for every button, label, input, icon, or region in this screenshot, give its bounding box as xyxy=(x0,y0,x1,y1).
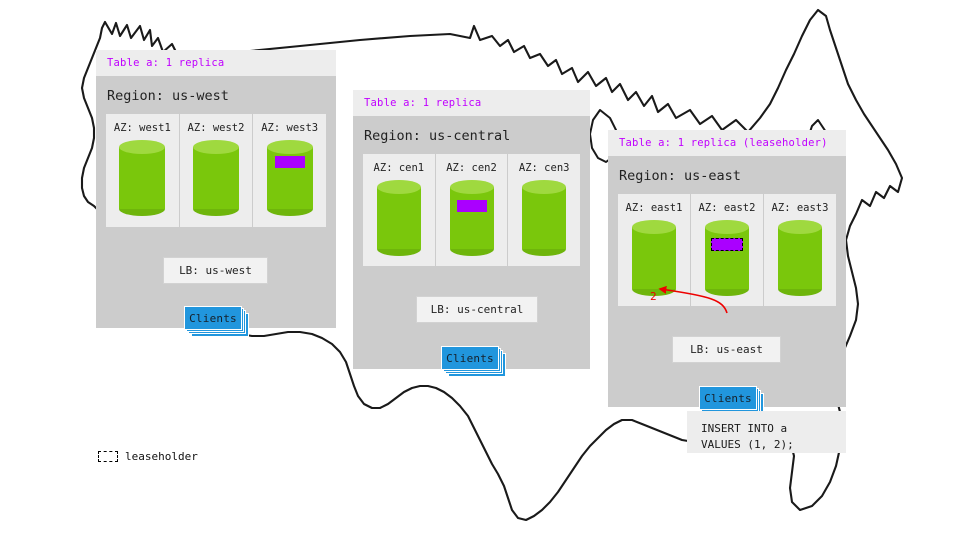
region-panel-us-central: Table a: 1 replica Region: us-central AZ… xyxy=(353,90,590,369)
clients-button-us-west[interactable]: Clients xyxy=(184,306,242,330)
panel-body-us-east: Region: us-east AZ: east1 AZ: east2 xyxy=(608,156,846,407)
az-label-cen1: AZ: cen1 xyxy=(363,162,435,174)
cylinder-body xyxy=(119,147,165,209)
cylinder-top xyxy=(522,180,566,194)
az-label-west2: AZ: west2 xyxy=(180,122,253,134)
node-cylinder-west3[interactable] xyxy=(267,140,313,216)
cylinder-body xyxy=(377,187,421,249)
node-cylinder-west1[interactable] xyxy=(119,140,165,216)
node-cylinder-west2[interactable] xyxy=(193,140,239,216)
load-balancer-us-central[interactable]: LB: us-central xyxy=(416,296,538,323)
cylinder-body xyxy=(450,187,494,249)
node-cylinder-east2[interactable] xyxy=(705,220,749,296)
panel-header-us-west: Table a: 1 replica xyxy=(96,50,336,76)
az-label-west3: AZ: west3 xyxy=(253,122,326,134)
az-cell-east3[interactable]: AZ: east3 xyxy=(764,194,836,306)
az-label-east1: AZ: east1 xyxy=(618,202,690,214)
replica-marker-west3[interactable] xyxy=(275,156,305,168)
cylinder-body xyxy=(632,227,676,289)
node-cylinder-cen3[interactable] xyxy=(522,180,566,256)
az-cell-west3[interactable]: AZ: west3 xyxy=(253,114,326,227)
node-cylinder-east3[interactable] xyxy=(778,220,822,296)
az-cell-cen3[interactable]: AZ: cen3 xyxy=(508,154,580,266)
cylinder-top xyxy=(450,180,494,194)
region-title-us-central: Region: us-central xyxy=(353,116,590,154)
replica-marker-east2-leaseholder[interactable] xyxy=(711,238,743,251)
az-label-east3: AZ: east3 xyxy=(764,202,836,214)
load-balancer-us-west[interactable]: LB: us-west xyxy=(163,257,268,284)
cylinder-top xyxy=(267,140,313,154)
region-panel-us-east: Table a: 1 replica (leaseholder) Region:… xyxy=(608,130,846,407)
sql-statement-box: INSERT INTO a VALUES (1, 2); xyxy=(687,411,846,453)
az-cell-west1[interactable]: AZ: west1 xyxy=(106,114,180,227)
cylinder-top xyxy=(193,140,239,154)
az-cell-west2[interactable]: AZ: west2 xyxy=(180,114,254,227)
arrow-step-label-2: 2 xyxy=(650,290,657,303)
clients-button-us-east[interactable]: Clients xyxy=(699,386,757,410)
legend-label: leaseholder xyxy=(125,450,198,463)
az-label-west1: AZ: west1 xyxy=(106,122,179,134)
cylinder-body xyxy=(522,187,566,249)
cylinder-body xyxy=(778,227,822,289)
az-row-us-central: AZ: cen1 AZ: cen2 xyxy=(363,154,580,266)
legend: leaseholder xyxy=(98,450,198,463)
cylinder-top xyxy=(119,140,165,154)
cylinder-top xyxy=(632,220,676,234)
region-title-us-west: Region: us-west xyxy=(96,76,336,114)
node-cylinder-east1[interactable] xyxy=(632,220,676,296)
clients-stack-us-central[interactable]: Clients xyxy=(441,346,499,370)
panel-header-us-east: Table a: 1 replica (leaseholder) xyxy=(608,130,846,156)
az-label-east2: AZ: east2 xyxy=(691,202,763,214)
panel-body-us-west: Region: us-west AZ: west1 AZ: west2 xyxy=(96,76,336,328)
region-panel-us-west: Table a: 1 replica Region: us-west AZ: w… xyxy=(96,50,336,328)
node-cylinder-cen2[interactable] xyxy=(450,180,494,256)
clients-stack-us-west[interactable]: Clients xyxy=(184,306,242,330)
az-row-us-west: AZ: west1 AZ: west2 xyxy=(106,114,326,227)
az-cell-east2[interactable]: AZ: east2 xyxy=(691,194,764,306)
clients-stack-us-east[interactable]: Clients xyxy=(699,386,757,410)
az-label-cen2: AZ: cen2 xyxy=(436,162,508,174)
cylinder-top xyxy=(705,220,749,234)
panel-header-us-central: Table a: 1 replica xyxy=(353,90,590,116)
az-cell-cen2[interactable]: AZ: cen2 xyxy=(436,154,509,266)
node-cylinder-cen1[interactable] xyxy=(377,180,421,256)
replica-marker-cen2[interactable] xyxy=(457,200,487,212)
region-title-us-east: Region: us-east xyxy=(608,156,846,194)
panel-body-us-central: Region: us-central AZ: cen1 AZ: cen2 xyxy=(353,116,590,369)
az-cell-cen1[interactable]: AZ: cen1 xyxy=(363,154,436,266)
az-label-cen3: AZ: cen3 xyxy=(508,162,580,174)
cylinder-body xyxy=(193,147,239,209)
dashed-rect-icon xyxy=(98,451,118,462)
clients-button-us-central[interactable]: Clients xyxy=(441,346,499,370)
cylinder-top xyxy=(778,220,822,234)
load-balancer-us-east[interactable]: LB: us-east xyxy=(672,336,781,363)
diagram-canvas: Table a: 1 replica Region: us-west AZ: w… xyxy=(0,0,960,540)
cylinder-body xyxy=(705,227,749,289)
cylinder-top xyxy=(377,180,421,194)
